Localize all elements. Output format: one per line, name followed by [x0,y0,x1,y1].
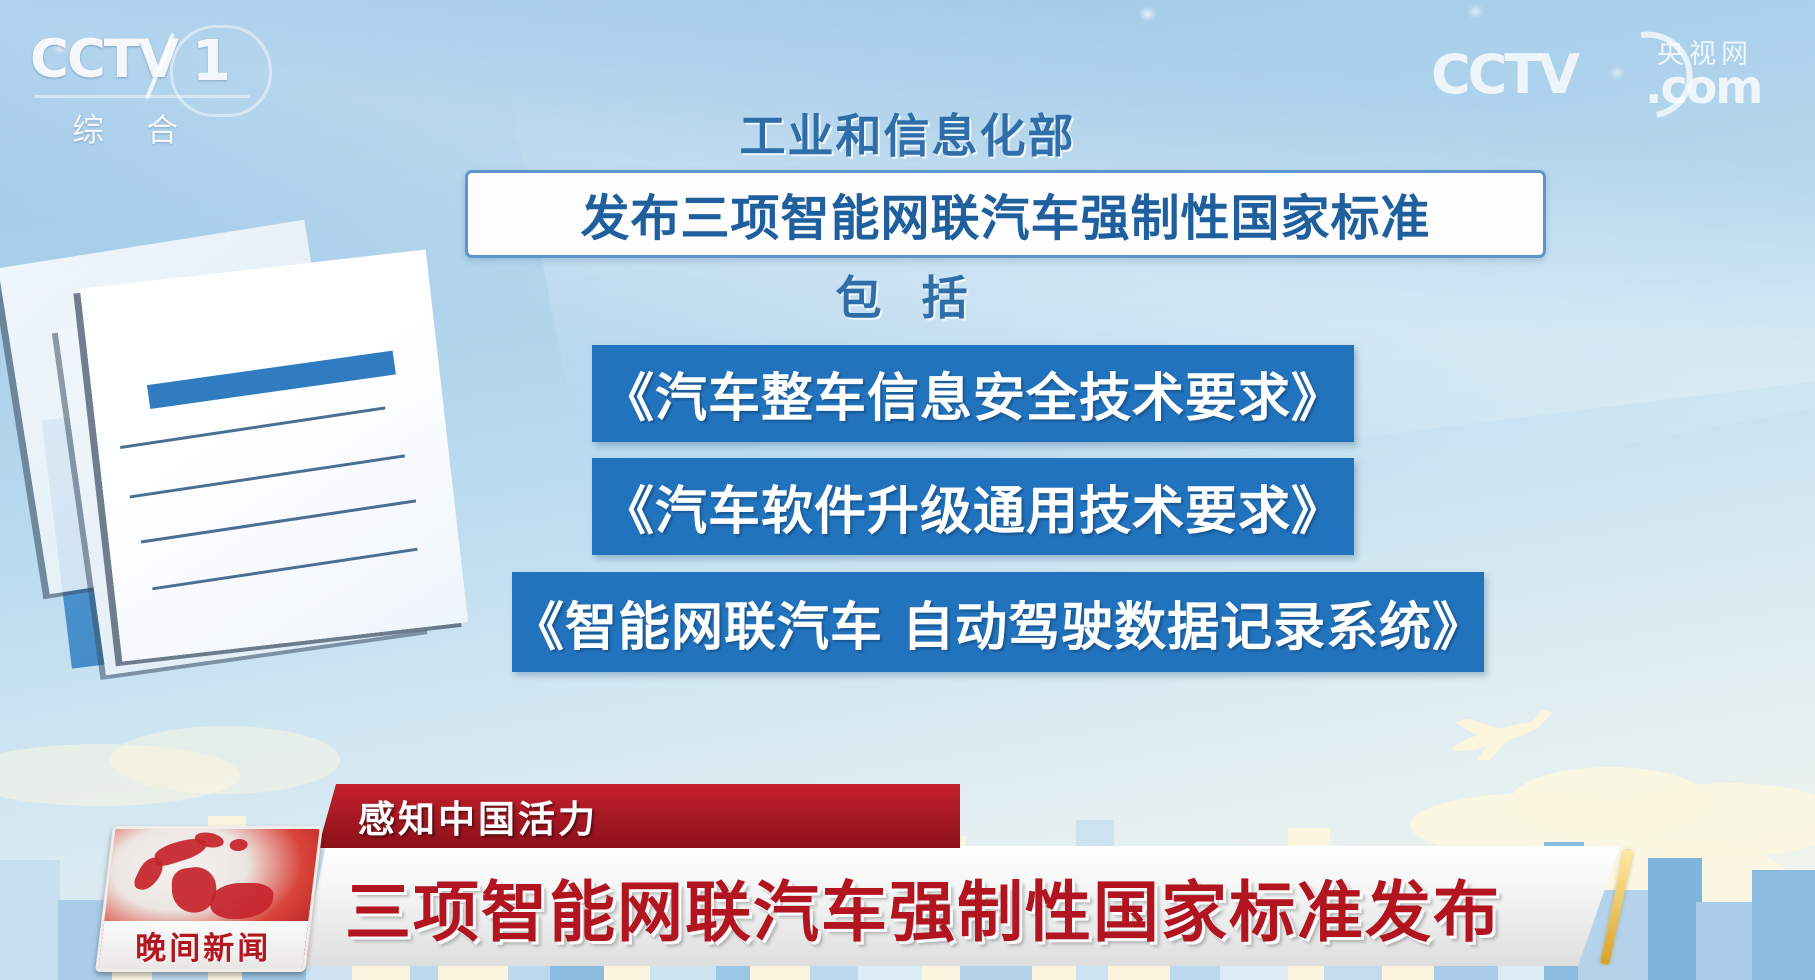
announcement-box: 发布三项智能网联汽车强制性国家标准 [465,170,1546,258]
headline-text: 三项智能网联汽车强制性国家标准发布 [345,859,1501,955]
program-name-text: 晚间新闻 [135,923,271,968]
includes-label: 包 括 [0,262,1815,328]
headline: 三项智能网联汽车强制性国家标准发布 [345,866,1595,948]
document-title-bar [147,351,396,409]
standard-item-3: 《智能网联汽车 自动驾驶数据记录系统》 [512,572,1484,672]
sparkle-1 [1142,10,1153,18]
channel-number: 1 [192,29,231,94]
standard-title-2: 《汽车软件升级通用技术要求》 [602,469,1344,544]
sparkle-2 [1471,8,1480,15]
watermark-brand: CCTV [1431,48,1577,102]
broadcast-screen: CCTV 1 综 合 CCTV 央视网 .com 工业和信息化部 发布三项智能网… [0,0,1815,980]
document-text-line [152,548,417,591]
standard-title-1: 《汽车整车信息安全技术要求》 [602,356,1344,431]
kicker-banner: 感知中国活力 [318,784,960,848]
kicker-text: 感知中国活力 [358,789,598,843]
standard-title-3: 《智能网联汽车 自动驾驶数据记录系统》 [512,585,1484,660]
announcement-text: 发布三项智能网联汽车强制性国家标准 [580,179,1430,250]
document-text-line [141,499,416,543]
ministry-label: 工业和信息化部 [0,100,1815,166]
document-text-line [120,406,385,449]
document-text-line [130,454,405,498]
channel-underline-decoration [34,95,250,98]
lower-third: 感知中国活力 三项智能网联汽车强制性国家标准发布 晚间新闻 [0,710,1815,980]
standard-item-1: 《汽车整车信息安全技术要求》 [592,345,1354,442]
standard-item-2: 《汽车软件升级通用技术要求》 [592,458,1354,555]
program-logo: 晚间新闻 [95,826,323,972]
program-name-plate: 晚间新闻 [98,921,308,969]
